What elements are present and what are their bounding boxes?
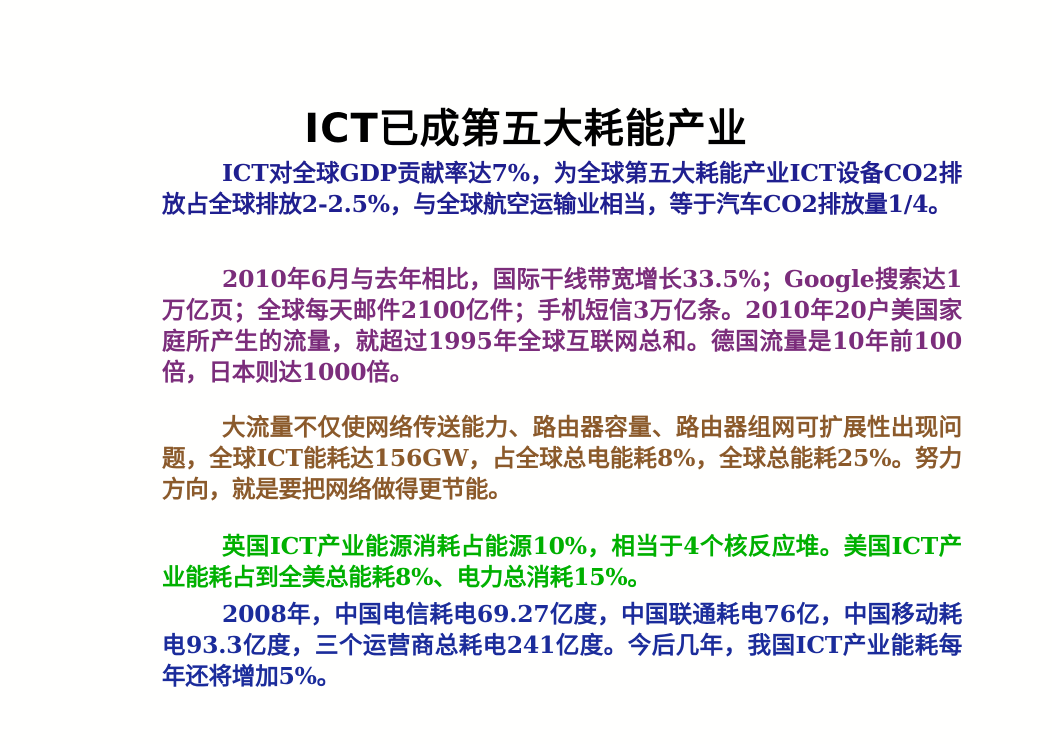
slide-body: 2008年，中国电信耗电69.27亿度，中国联通耗电76亿，中国移动耗电93.3… [162, 592, 962, 692]
paragraph-uk-us-ict-energy: 英国ICT产业能源消耗占能源10%，相当于4个核反应堆。美国ICT产业能耗占到全… [162, 531, 962, 593]
page-title: ICT已成第五大耗能产业 [0, 107, 1052, 151]
paragraph-traffic-growth-2010: 2010年6月与去年相比，国际干线带宽增长33.5%；Google搜索达1万亿页… [162, 264, 962, 388]
slide-body: 英国ICT产业能源消耗占能源10%，相当于4个核反应堆。美国ICT产业能耗占到全… [162, 524, 962, 593]
slide-body: 2010年6月与去年相比，国际干线带宽增长33.5%；Google搜索达1万亿页… [162, 257, 962, 388]
presentation-slide: ICT已成第五大耗能产业 ICT对全球GDP贡献率达7%，为全球第五大耗能产业I… [0, 0, 1052, 744]
paragraph-global-ict-power: 大流量不仅使网络传送能力、路由器容量、路由器组网可扩展性出现问题，全球ICT能耗… [162, 412, 962, 505]
slide-body: 大流量不仅使网络传送能力、路由器容量、路由器组网可扩展性出现问题，全球ICT能耗… [162, 405, 962, 505]
paragraph-china-carriers-2008: 2008年，中国电信耗电69.27亿度，中国联通耗电76亿，中国移动耗电93.3… [162, 599, 962, 692]
slide-body: ICT对全球GDP贡献率达7%，为全球第五大耗能产业ICT设备CO2排放占全球排… [162, 158, 962, 220]
paragraph-ict-gdp-co2: ICT对全球GDP贡献率达7%，为全球第五大耗能产业ICT设备CO2排放占全球排… [162, 158, 962, 220]
